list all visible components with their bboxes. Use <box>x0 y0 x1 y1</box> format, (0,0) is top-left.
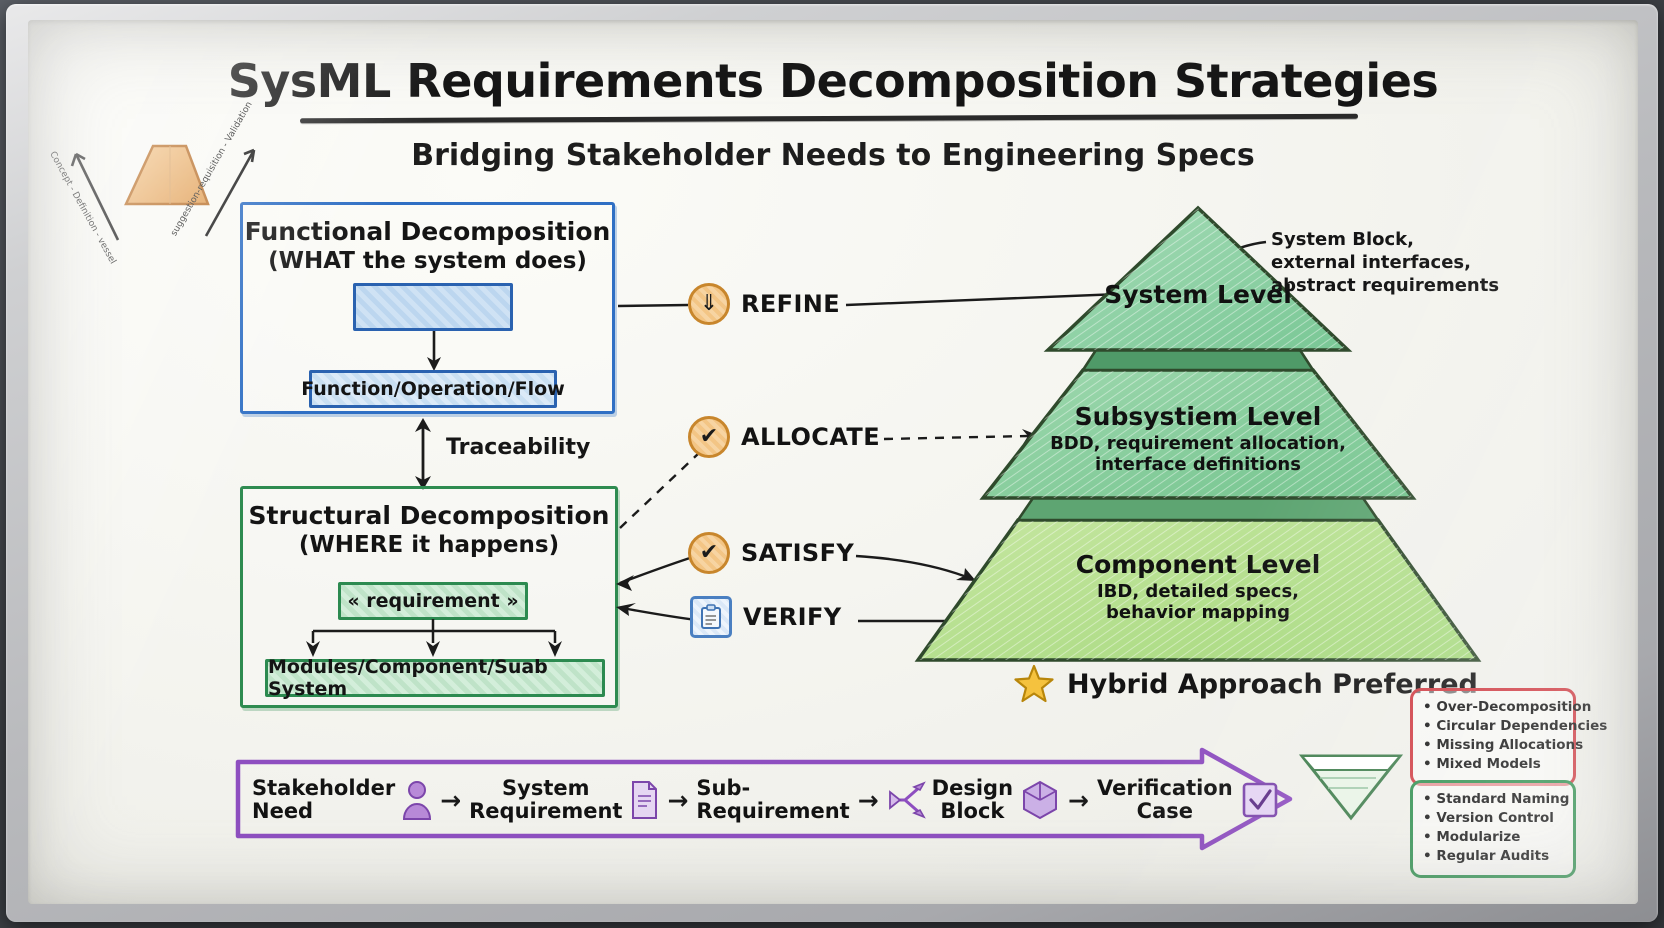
relation-verify[interactable]: VERIFY <box>690 596 842 638</box>
flow-step-label: Design Block <box>932 777 1013 823</box>
flow-step-stakeholder-need[interactable]: Stakeholder Need <box>252 777 432 823</box>
flow-step-label: Verification Case <box>1097 777 1233 823</box>
flow-step-verification-case[interactable]: Verification Case <box>1097 777 1280 823</box>
flow-step-system-requirement[interactable]: System Requirement <box>469 777 659 823</box>
practice-item: Regular Audits <box>1423 847 1563 866</box>
relation-allocate[interactable]: ✔ ALLOCATE <box>688 416 880 458</box>
relation-refine-label: REFINE <box>741 290 840 318</box>
callout-pitfalls[interactable]: Over-Decomposition Circular Dependencies… <box>1410 688 1576 786</box>
screenshot-root: SysML Requirements Decomposition Strateg… <box>0 0 1664 928</box>
flow-step-design-block[interactable]: Design Block <box>932 777 1060 823</box>
relation-satisfy-label: SATISFY <box>741 539 854 567</box>
pitfall-item: Circular Dependencies <box>1423 717 1563 736</box>
process-flow-band[interactable]: Stakeholder Need → System Requirement <box>234 748 1296 850</box>
relation-satisfy[interactable]: ✔ SATISFY <box>688 532 854 574</box>
practice-item: Version Control <box>1423 809 1563 828</box>
person-icon <box>402 779 432 821</box>
hybrid-approach-note: Hybrid Approach Preferred <box>1014 664 1478 704</box>
bottom-cone-sketch <box>1296 748 1406 828</box>
relation-allocate-label: ALLOCATE <box>741 423 880 451</box>
pitfall-item: Over-Decomposition <box>1423 698 1563 717</box>
check-circle-icon: ✔ <box>688 532 730 574</box>
flow-step-sub-requirement[interactable]: Sub-Requirement <box>696 777 849 823</box>
branch-icon <box>887 778 927 822</box>
pitfall-item: Missing Allocations <box>1423 736 1563 755</box>
system-block-annotation: System Block, external interfaces, abstr… <box>1271 228 1501 297</box>
flow-arrow-icon: → <box>1065 786 1092 815</box>
clipboard-icon <box>690 596 732 638</box>
flow-steps: Stakeholder Need → System Requirement <box>252 764 1262 836</box>
relation-verify-label: VERIFY <box>743 603 842 631</box>
document-icon <box>629 780 659 820</box>
star-icon <box>1014 664 1054 704</box>
relation-refine[interactable]: ⇓ REFINE <box>688 283 840 325</box>
flow-step-label: System Requirement <box>469 777 622 823</box>
down-arrow-circle-icon: ⇓ <box>688 283 730 325</box>
checkbox-icon <box>1240 780 1280 820</box>
flow-arrow-icon: → <box>855 786 882 815</box>
check-circle-icon: ✔ <box>688 416 730 458</box>
cube-icon <box>1020 779 1060 821</box>
practice-item: Modularize <box>1423 828 1563 847</box>
flow-step-label: Sub-Requirement <box>696 777 849 823</box>
flow-arrow-icon: → <box>664 786 691 815</box>
flow-step-label: Stakeholder Need <box>252 777 395 823</box>
flow-arrow-icon: → <box>437 786 464 815</box>
whiteboard-frame: SysML Requirements Decomposition Strateg… <box>6 4 1658 922</box>
callout-best-practices[interactable]: Standard Naming Version Control Modulari… <box>1410 780 1576 878</box>
whiteboard-surface: SysML Requirements Decomposition Strateg… <box>28 20 1638 904</box>
pitfall-item: Mixed Models <box>1423 755 1563 774</box>
practice-item: Standard Naming <box>1423 790 1563 809</box>
